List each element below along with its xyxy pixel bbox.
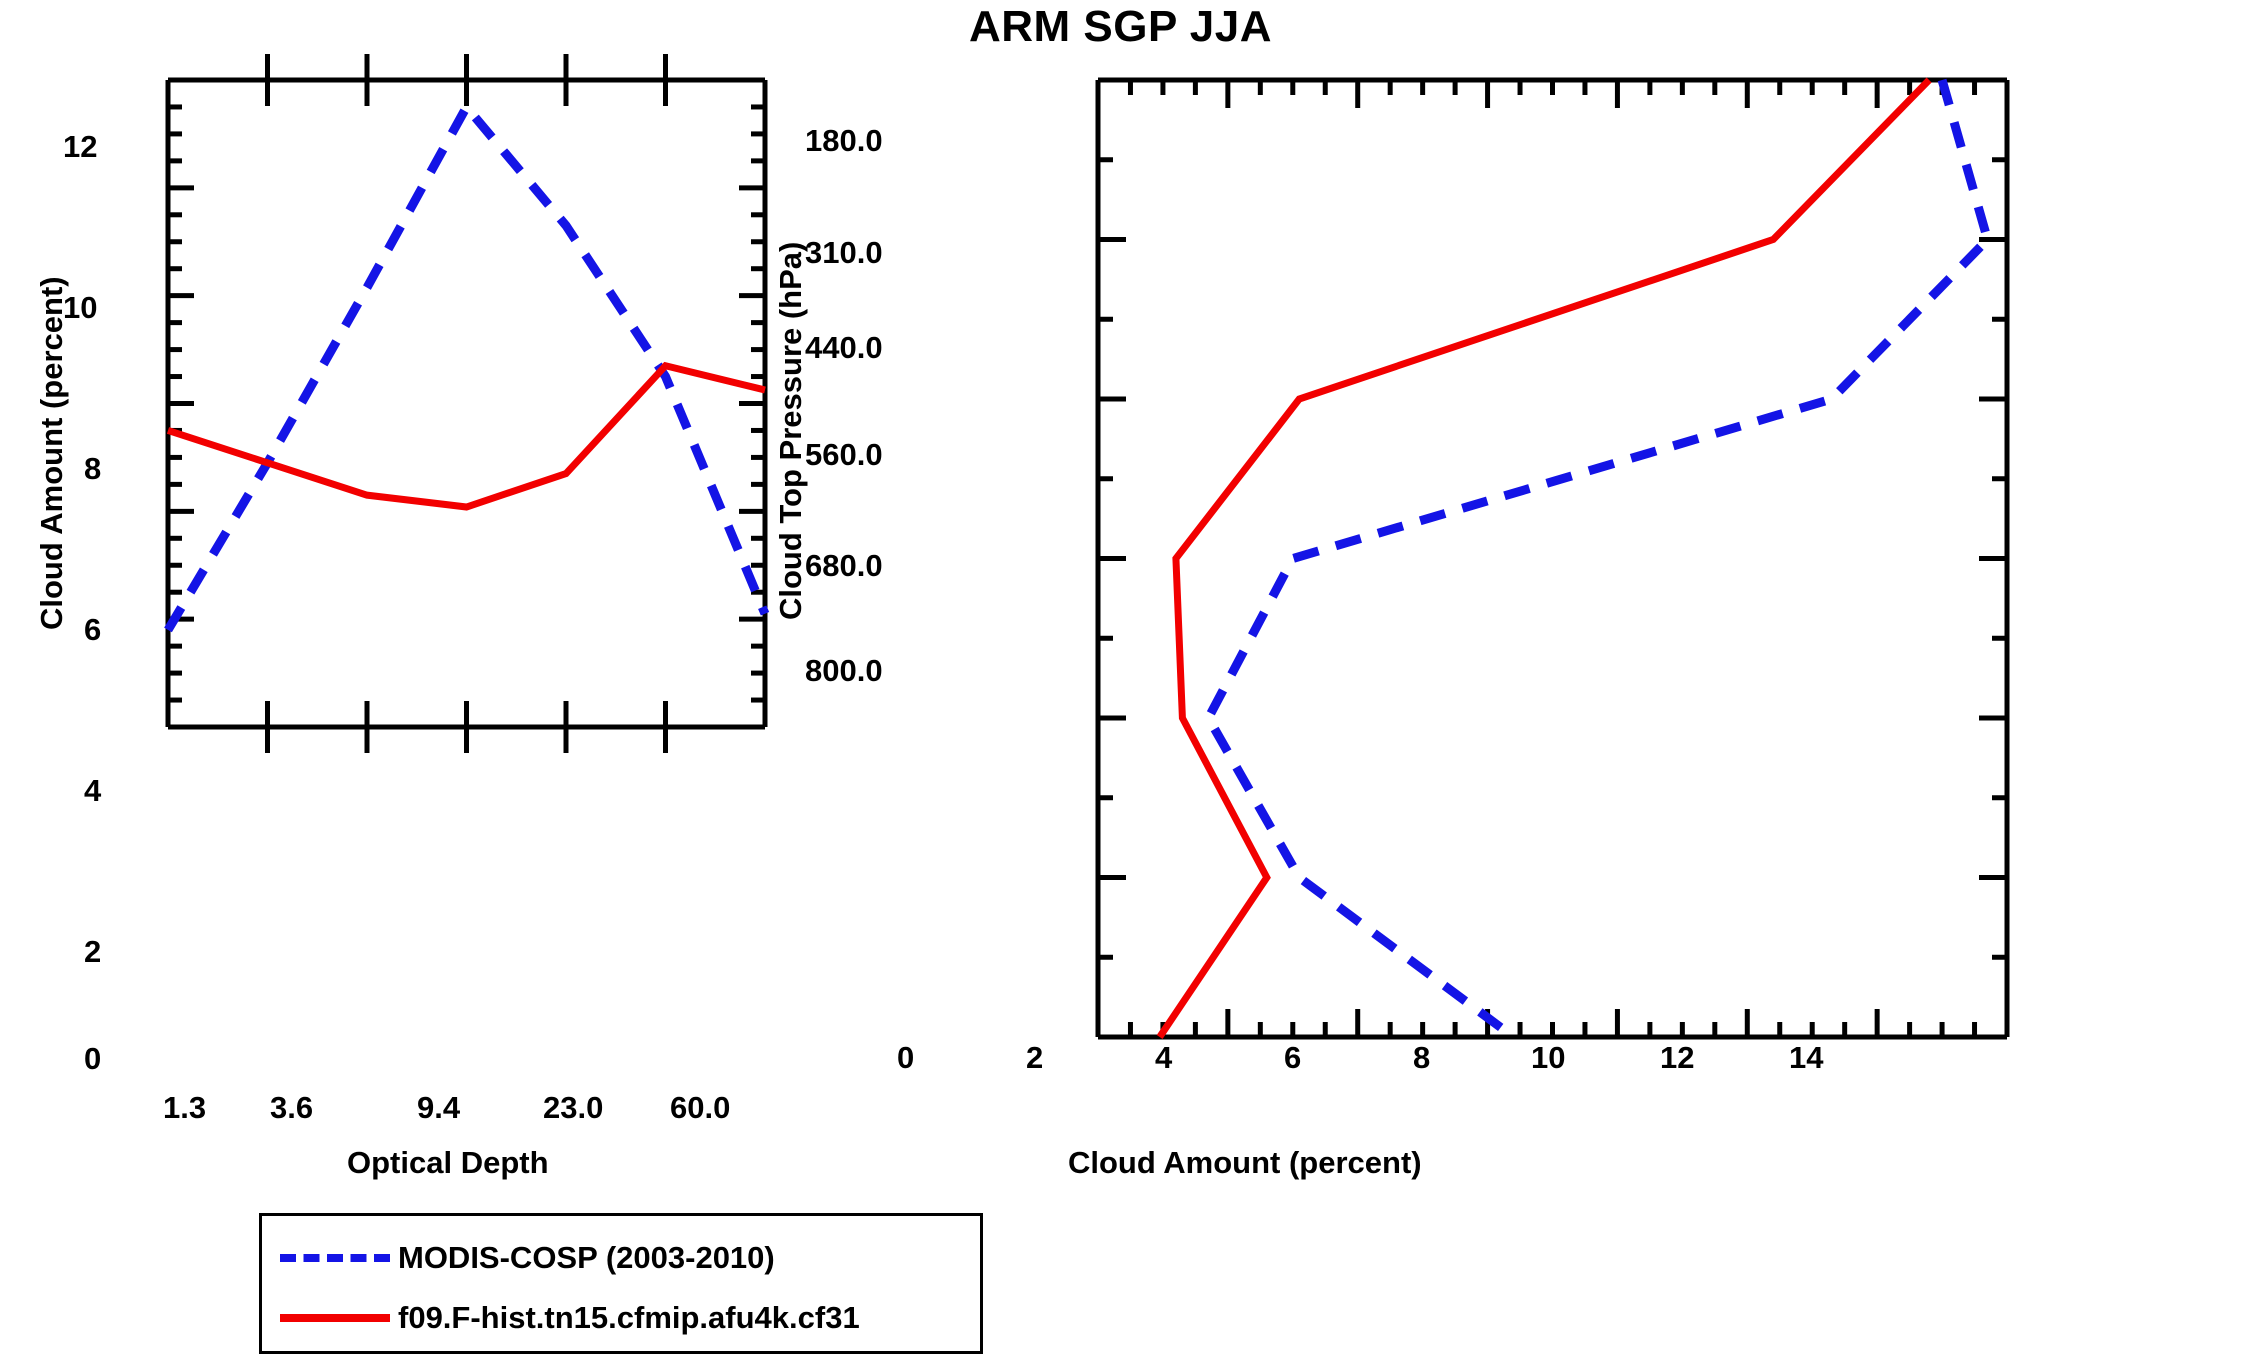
legend-swatch-model [280, 1314, 390, 1322]
right-y-tick-label-310: 310.0 [805, 235, 883, 271]
left-panel-plot [0, 0, 1090, 1200]
right-y-tick-label-800: 800.0 [805, 653, 883, 689]
legend-item-model[interactable]: f09.F-hist.tn15.cfmip.afu4k.cf31 [262, 1292, 980, 1344]
right-y-tick-label-560: 560.0 [805, 437, 883, 473]
legend-item-obs[interactable]: MODIS-COSP (2003-2010) [262, 1232, 980, 1284]
legend-swatch-obs [280, 1254, 390, 1262]
right-panel-y-axis-label: Cloud Top Pressure (hPa) [773, 242, 809, 620]
right-x-tick-label-0: 0 [897, 1040, 914, 1076]
right-x-tick-label-2: 2 [1026, 1040, 1043, 1076]
legend: MODIS-COSP (2003-2010) f09.F-hist.tn15.c… [259, 1213, 983, 1354]
figure-canvas: ARM SGP JJA Cloud Amount (percent) Optic… [0, 0, 2241, 1367]
cloud-top-pressure-panel: Cloud Top Pressure (hPa) Cloud Amount (p… [1090, 0, 2241, 1200]
legend-label-model: f09.F-hist.tn15.cfmip.afu4k.cf31 [398, 1300, 860, 1336]
optical-depth-panel: Cloud Amount (percent) Optical Depth 0 2… [0, 0, 1090, 1200]
right-y-tick-label-180: 180.0 [805, 123, 883, 159]
right-y-tick-label-440: 440.0 [805, 330, 883, 366]
right-y-tick-label-680: 680.0 [805, 548, 883, 584]
legend-label-obs: MODIS-COSP (2003-2010) [398, 1240, 775, 1276]
right-panel-plot [1090, 0, 2241, 1200]
